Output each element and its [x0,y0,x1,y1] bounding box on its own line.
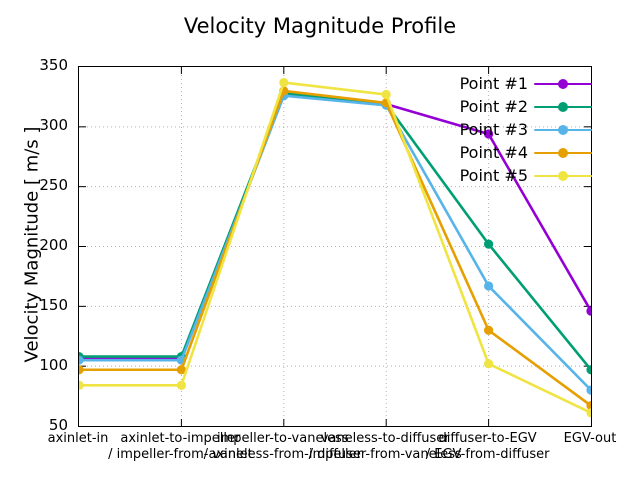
legend-label: Point #5 [460,166,528,185]
legend-item-point-4[interactable]: Point #4 [446,141,592,164]
data-point [484,240,493,249]
y-tick-label: 200 [22,238,68,253]
legend-item-point-3[interactable]: Point #3 [446,118,592,141]
legend-label: Point #3 [460,120,528,139]
data-point [484,326,493,335]
data-point [382,90,391,99]
y-tick-label: 250 [22,178,68,193]
legend-item-point-1[interactable]: Point #1 [446,72,592,95]
data-point [177,381,186,390]
legend-swatch [534,123,592,137]
y-tick-label: 350 [22,58,68,73]
legend-label: Point #2 [460,97,528,116]
y-tick-label: 300 [22,118,68,133]
legend-item-point-5[interactable]: Point #5 [446,164,592,187]
data-point [484,281,493,290]
legend-label: Point #1 [460,74,528,93]
chart-title: Velocity Magnitude Profile [0,14,640,38]
data-point [279,78,288,87]
data-point [484,359,493,368]
legend-item-point-2[interactable]: Point #2 [446,95,592,118]
legend-label: Point #4 [460,143,528,162]
y-tick-label: 100 [22,358,68,373]
x-tick-label: EGV-out [480,431,640,447]
chart-legend: Point #1 Point #2 Point #3 Point #4 Poin… [446,72,592,187]
legend-swatch [534,77,592,91]
legend-swatch [534,169,592,183]
y-tick-label: 150 [22,298,68,313]
chart-container: Velocity Magnitude Profile Velocity Magn… [0,0,640,480]
legend-swatch [534,100,592,114]
data-point [79,381,84,390]
data-point [586,307,591,316]
legend-swatch [534,146,592,160]
y-axis-ticks: 350 300 250 200 150 100 50 [22,0,68,480]
